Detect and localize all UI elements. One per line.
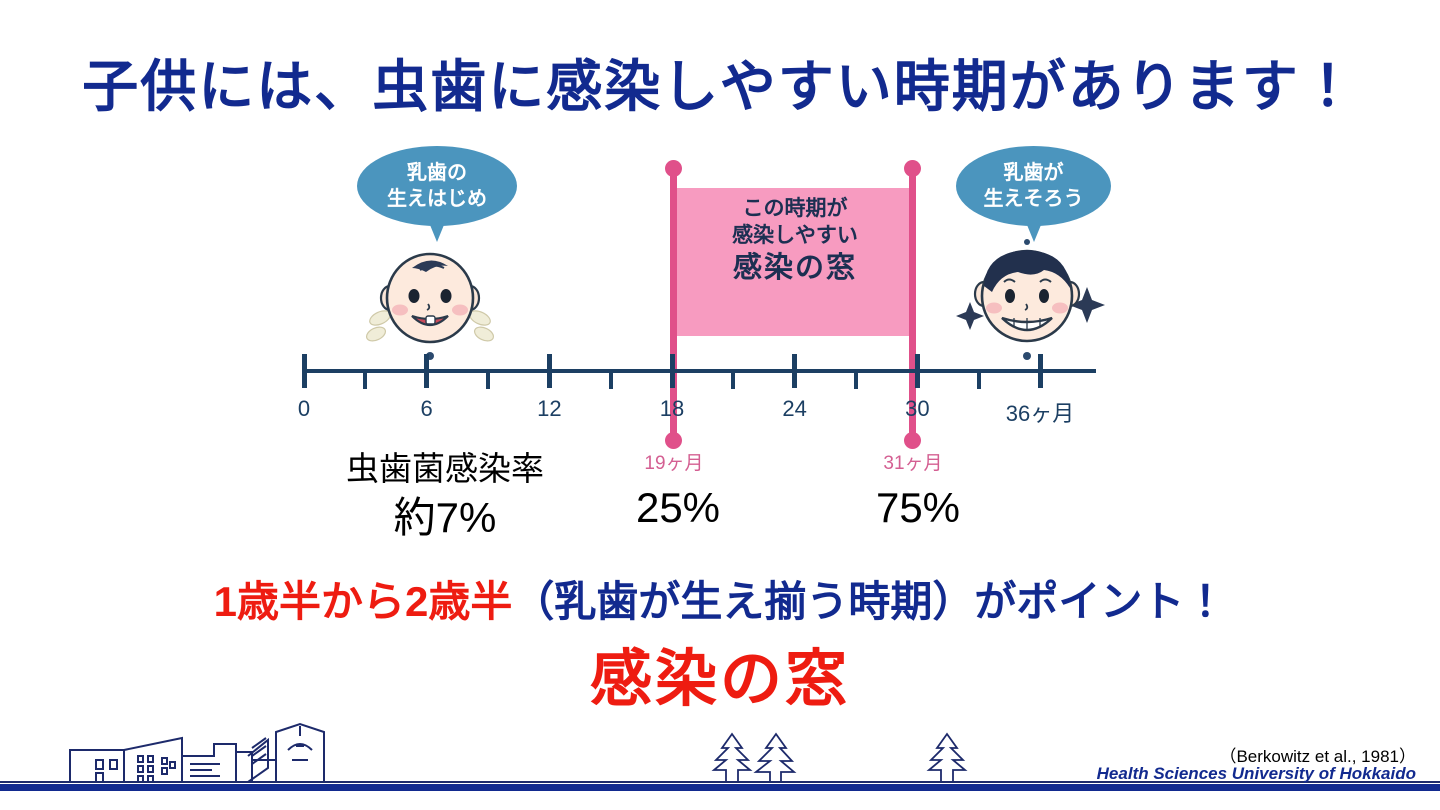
timeline-tick-6 <box>424 354 429 388</box>
marker-label-19-months: 19ヶ月 <box>614 448 734 475</box>
marker-label-31-months: 31ヶ月 <box>853 448 973 475</box>
child-cheek-right <box>1052 303 1068 314</box>
timeline-tick-12 <box>547 354 552 388</box>
timeline-minor-tick-21 <box>731 371 735 389</box>
timeline-label-24: 24 <box>750 396 840 422</box>
timeline-label-30: 30 <box>872 396 962 422</box>
timeline-label-36: 36ヶ月 <box>995 396 1085 428</box>
timeline-label-6: 6 <box>382 396 472 422</box>
timeline-label-0: 0 <box>259 396 349 422</box>
speech-bubble-left-tail <box>428 220 446 242</box>
timeline-minor-tick-27 <box>854 371 858 389</box>
baby-eye-right <box>441 289 452 303</box>
headline-infection-window: 感染の窓 <box>0 628 1440 718</box>
point-message-red: 1歳半から2歳半 <box>214 578 513 625</box>
page-title: 子供には、虫歯に感染しやすい時期があります！ <box>0 42 1440 123</box>
infection-window-line3: 感染の窓 <box>674 250 916 287</box>
timeline-minor-tick-9 <box>486 371 490 389</box>
footer-rule <box>0 784 1440 791</box>
rate-value-31-months: 75% <box>798 484 1038 532</box>
infection-window-line1: この時期が <box>674 196 916 223</box>
rate-value-19-months: 25% <box>558 484 798 532</box>
baby-face-illustration <box>360 246 500 361</box>
infection-window-text: この時期が 感染しやすい 感染の窓 <box>674 196 916 287</box>
child-eye-left <box>1005 289 1015 303</box>
university-name: Health Sciences University of Hokkaido <box>1097 764 1416 784</box>
timeline-minor-tick-3 <box>363 371 367 389</box>
bubble-left-line1: 乳歯の <box>407 162 467 184</box>
timeline-tick-24 <box>792 354 797 388</box>
speech-bubble-right: 乳歯が 生えそろう <box>956 146 1111 226</box>
child-cheek-left <box>986 303 1002 314</box>
bubble-right-line2: 生えそろう <box>984 188 1084 210</box>
speech-bubble-right-tail <box>1025 220 1043 242</box>
baby-tooth <box>426 316 435 324</box>
window-marker-dot-31-bottom <box>904 432 921 449</box>
bubble-left-line2: 生えはじめ <box>387 188 487 210</box>
point-message: 1歳半から2歳半（乳歯が生え揃う時期）がポイント！ <box>0 568 1440 629</box>
baby-cheek-right <box>452 305 468 316</box>
child-pointer-dot <box>1023 352 1031 360</box>
bubble-right-line1: 乳歯が <box>1004 162 1064 184</box>
timeline-tick-0 <box>302 354 307 388</box>
window-marker-dot-19-bottom <box>665 432 682 449</box>
timeline-minor-tick-15 <box>609 371 613 389</box>
rate-caption: 虫歯菌感染率 <box>330 442 560 490</box>
timeline-tick-18 <box>670 354 675 388</box>
pine-trees-icon <box>714 734 965 782</box>
point-message-blue: （乳歯が生え揃う時期）がポイント！ <box>512 578 1226 625</box>
infection-window-line2: 感染しやすい <box>674 223 916 250</box>
rate-value-early: 約7% <box>325 484 565 545</box>
child-eye-right <box>1039 289 1049 303</box>
timeline-label-12: 12 <box>504 396 594 422</box>
baby-cheek-left <box>392 305 408 316</box>
window-marker-dot-19-top <box>665 160 682 177</box>
slide-canvas: 子供には、虫歯に感染しやすい時期があります！ 乳歯の 生えはじめ 乳歯が 生えそ… <box>0 0 1440 810</box>
window-marker-dot-31-top <box>904 160 921 177</box>
speech-bubble-right-text: 乳歯が 生えそろう <box>984 160 1084 212</box>
speech-bubble-left-text: 乳歯の 生えはじめ <box>387 160 487 212</box>
campus-buildings-icon <box>70 724 324 782</box>
timeline-tick-36 <box>1038 354 1043 388</box>
speech-bubble-left: 乳歯の 生えはじめ <box>357 146 517 226</box>
timeline-tick-30 <box>915 354 920 388</box>
timeline-minor-tick-33 <box>977 371 981 389</box>
timeline-label-18: 18 <box>627 396 717 422</box>
baby-eye-left <box>409 289 420 303</box>
child-face-illustration <box>948 238 1108 363</box>
